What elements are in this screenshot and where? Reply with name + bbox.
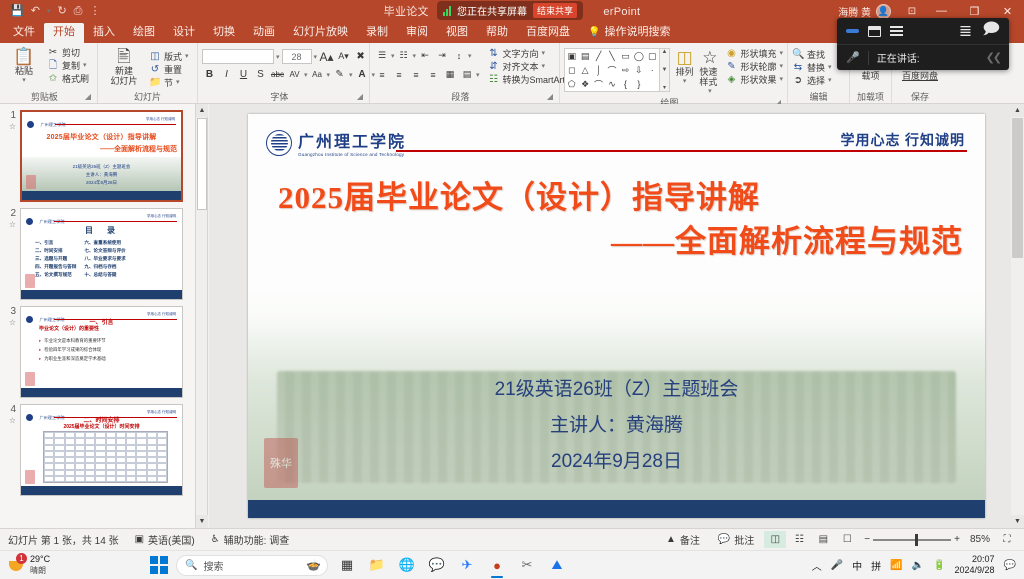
font-color-button[interactable]: A [355,67,370,82]
subtitle-line-2: 主讲人：黄海腾 [248,408,985,444]
copy-icon: 🗋 [47,60,59,72]
mini-highlight-3: 毕业论文（设计）的重要性 [39,325,172,332]
section-button[interactable]: 📁 节 ▾ [149,77,189,89]
header-rule [396,150,967,152]
quick-styles-label: 快速样式 [699,67,720,87]
tab-baidu-netdisk[interactable]: 百度网盘 [517,23,579,43]
thumbnail-slide-4[interactable]: 4 ☆ 广州理工学院 学用心志 行知诚明 二、时间安排 2025届毕业论文（设计… [0,398,195,496]
meeting-toolbar-bottom: 🎤 正在讲话: ❮❮ [837,44,1009,70]
bold-button[interactable]: B [202,67,217,82]
mini-header-1: 广州理工学院 学用心志 行知诚明 [27,116,176,125]
paste-icon: 📋 [13,47,34,66]
arrange-button[interactable]: ◫ 排列 ▾ [675,48,694,87]
shape-effects-label: 形状效果 [740,74,776,86]
font-name-dropdown-icon[interactable]: ▾ [276,53,280,61]
main-scroll-up-icon[interactable]: ▲ [1011,104,1024,117]
meeting-minimize-icon[interactable] [846,29,859,33]
character-spacing-button[interactable]: AV [287,67,302,82]
format-painter-label: 格式刷 [62,73,89,85]
microphone-icon[interactable]: 🎤 [831,560,843,571]
copy-dropdown-icon[interactable]: ▾ [83,60,87,72]
tab-view[interactable]: 视图 [437,23,477,43]
paintbrush-icon: ✩ [47,73,59,85]
thumbnail-pane-scrollbar[interactable]: ▲ ▼ [196,104,208,528]
tencent-meeting-icon[interactable]: ✈ [456,554,478,576]
columns-dropdown-icon[interactable]: ▾ [476,71,480,79]
ime-pinyin-indicator[interactable]: 拼 [871,558,881,573]
font-size-input[interactable]: 28 [282,49,312,64]
clock-date: 2024/9/28 [955,565,995,575]
meeting-floating-toolbar[interactable]: ≣ 🗩 🎤 正在讲话: ❮❮ [837,18,1009,70]
thumbnail-preview-1[interactable]: 广州理工学院 学用心志 行知诚明 2025届毕业论文（设计）指导讲解 ——全面解… [20,110,183,202]
slide-stage: 广州理工学院 Guangzhou Institute of Science an… [209,104,1024,528]
meeting-toolbar-top: ≣ 🗩 [837,18,1009,44]
tab-help[interactable]: 帮助 [477,23,517,43]
notes-icon: ▲ [666,534,676,545]
shape-fill-button[interactable]: ◉ 形状填充 ▾ [725,48,783,60]
shape-right-arrow-icon[interactable]: ⇨ [622,65,630,76]
reset-icon: ↺ [149,64,161,76]
align-text-icon: ⇵ [488,61,500,73]
mini-table-4 [43,431,168,483]
clipboard-dialog-launcher-icon[interactable]: ◢ [85,91,91,103]
mini-toc-col-left: 一、引言 二、时间安排 三、选题与开题 四、开题报告与答辩 五、论文撰写规范 [35,239,76,279]
slide-sorter-view-button[interactable]: ☷ [788,531,810,548]
clear-formatting-icon[interactable]: ✖ [353,49,368,64]
bullets-button[interactable]: ☰ [374,48,390,63]
slides-group-label: 幻灯片 [102,91,193,103]
mini-school-logo-icon-1 [27,121,34,128]
thumb-num-text-2: 2 [10,208,16,219]
shape-dot-icon[interactable]: · [651,65,654,75]
shape-fill-dropdown-icon[interactable]: ▾ [779,48,783,60]
replace-button[interactable]: ⇆ 替换 ▾ [792,62,832,74]
numbering-button[interactable]: ☷ [396,48,412,63]
line-spacing-dropdown-icon[interactable]: ▾ [468,52,472,60]
tab-insert[interactable]: 插入 [84,23,124,43]
smartart-icon: ☷ [488,74,500,86]
reset-button[interactable]: ↺ 重置 [149,64,189,76]
lightbulb-icon: 💡 [588,26,600,39]
current-slide[interactable]: 广州理工学院 Guangzhou Institute of Science an… [248,114,985,518]
italic-button[interactable]: I [219,67,234,82]
save-group-label: 保存 [896,91,944,103]
copy-button[interactable]: 🗋 复制 ▾ [47,60,89,72]
shape-line-icon[interactable]: ╱ [596,51,601,62]
zoom-in-button[interactable]: + [954,534,960,545]
arrange-icon: ◫ [677,48,693,67]
shape-curve-icon[interactable]: ⌒ [594,78,603,91]
edge-icon[interactable]: 🌐 [396,554,418,576]
text-direction-dropdown-icon[interactable]: ▾ [542,48,546,60]
reset-label: 重置 [164,64,182,76]
shape-outline-button[interactable]: ✎ 形状轮廓 ▾ [725,61,783,73]
mini-title-line2-1: ——全面解析流程与规范 [28,144,177,154]
shape-textbox-icon[interactable]: ▣ [567,51,576,62]
thumbnail-number-2: 2 ☆ [4,208,20,300]
section-dropdown-icon[interactable]: ▾ [176,77,180,89]
document-title-text: 毕业论文 [384,6,429,18]
mini-rule-1 [55,124,176,125]
status-bar: 幻灯片 第 1 张，共 14 张 ▣ 英语(美国) ♿ 辅助功能: 调查 ▲ 备… [0,528,1024,550]
text-highlight-color-button[interactable]: ✎ [332,67,347,82]
convert-smartart-button[interactable]: ☷ 转换为SmartArt ▾ [488,74,572,86]
shape-elbow-icon[interactable]: ⌡ [596,65,601,75]
paragraph-group-label: ◢ 段落 [374,91,555,103]
mini-bullet: 毕业论文是本科教育的重要环节 [39,336,172,345]
animation-star-icon-3: ☆ [4,317,16,328]
text-direction-button[interactable]: ⇅ 文字方向 ▾ [488,48,572,60]
zoom-slider[interactable]: − + [860,534,964,545]
mini-sub1-1: 21级英语26班（Z）主题班会 [22,164,181,170]
more-icon[interactable]: ≣ [959,21,972,41]
tab-design[interactable]: 设计 [164,23,204,43]
thumb-num-text-3: 3 [10,306,16,317]
speaking-label: 正在讲话: [877,50,920,65]
mini-stamp-2 [25,274,35,288]
shapes-scroll-up-icon[interactable]: ▲ [662,49,668,55]
font-label-text: 字体 [270,92,288,102]
new-slide-label-2: 幻灯片 [110,76,137,86]
shape-triangle-icon[interactable]: △ [582,65,589,76]
tab-transitions[interactable]: 切换 [204,23,244,43]
shape-freeform-icon[interactable]: ❖ [581,79,589,90]
normal-view-button[interactable]: ◫ [764,531,786,548]
user-account[interactable]: 海腾 黄 👤 [838,4,899,19]
weather-temperature: 29°C [30,554,50,564]
zoom-level[interactable]: 85% [966,534,994,545]
weather-widget[interactable]: 1 29°C 晴朗 [0,554,150,576]
ribbon-group-font: ▾ 28 ▾ A▴ A▾ ✖ B I U S abc AV ▾ Aa ▾ [198,43,370,103]
slideshow-view-button[interactable]: ☐ [836,531,858,548]
font-group-label: ◢ 字体 [202,91,365,103]
layout-icon: ◫ [149,51,161,63]
ribbon-group-drawing: ▣ ▤ ╱ ╲ ▭ ◯ ▢ ◻ △ ⌡ ⌒ ⇨ ⇩ · ⬠ [560,43,788,103]
meeting-toolbar-right: ≣ 🗩 [959,18,1000,45]
system-tray: ︿ 🎤 中 拼 📶 🔈 🔋 20:07 2024/9/28 💬 [812,554,1024,576]
slide-thumbnail-pane[interactable]: 1 ☆ 广州理工学院 学用心志 行知诚明 2025届毕业论文（设计）指导讲解 —… [0,104,196,528]
font-name-input[interactable] [202,49,274,64]
mini-bullet: 为职业生涯和深造奠定学术基础 [39,354,172,363]
thumb-scroll-up-icon[interactable]: ▲ [196,104,208,117]
tab-record[interactable]: 录制 [357,23,397,43]
thumbnail-number-3: 3 ☆ [4,306,20,398]
increase-indent-button[interactable]: ⇥ [434,48,450,63]
toc-item: 五、论文撰写规范 [35,271,76,279]
toc-item: 二、时间安排 [35,247,76,255]
notification-center-icon[interactable]: 💬 [1004,560,1016,571]
addins-group-label: 加载项 [854,91,887,103]
school-motto: 学用心志 行知诚明 [841,130,966,150]
members-icon[interactable] [890,26,903,37]
shapes-gallery-scrollbar[interactable]: ▲ ▼ ▾ [660,48,670,92]
slide-area-scrollbar[interactable]: ▲ ▼ [1011,104,1024,528]
paragraph-label-text: 段落 [451,92,469,102]
animation-star-icon-2: ☆ [4,219,16,230]
shapes-gallery[interactable]: ▣ ▤ ╱ ╲ ▭ ◯ ▢ ◻ △ ⌡ ⌒ ⇨ ⇩ · ⬠ [564,48,660,92]
mini-footer-4 [21,486,182,495]
columns-button[interactable]: ▤ [459,67,475,82]
tab-slideshow[interactable]: 幻灯片放映 [284,23,357,43]
new-slide-icon: 🖹 [117,47,131,66]
increase-font-size-button[interactable]: A▴ [319,49,334,64]
slide-title[interactable]: 2025届毕业论文（设计）指导讲解 ——全面解析流程与规范 [278,176,963,264]
arrange-label: 排列 [676,67,694,77]
shape-vertical-textbox-icon[interactable]: ▤ [581,51,590,62]
strikethrough-button[interactable]: abc [270,67,285,82]
shape-square-icon[interactable]: ◻ [568,65,575,76]
character-spacing-dropdown-icon[interactable]: ▾ [304,71,308,79]
mini-body-3: 毕业论文（设计）的重要性 毕业论文是本科教育的重要环节 检验四年学习成果的综合体… [39,325,172,363]
toc-item: 一、引言 [35,239,76,247]
change-case-dropdown-icon[interactable]: ▾ [327,71,331,79]
main-scroll-thumb[interactable] [1012,118,1023,258]
layout-button[interactable]: ◫ 版式 ▾ [149,51,189,63]
select-button[interactable]: ➲ 选择 ▾ [792,75,832,87]
cut-label: 剪切 [62,47,80,59]
mini-title-line1-1: 2025届毕业论文（设计）指导讲解 [28,132,175,142]
toc-item: 九、归档与存档 [84,263,125,271]
shapes-more-icon[interactable]: ▾ [663,84,666,91]
school-seal-icon [266,130,292,156]
powerpoint-window: 💾 ↶ ▾ ↻ ⎙ ⋮ 毕业论文 erPoint 您正在共享屏幕 结束共享 海腾… [0,0,1024,579]
comment-bubble-icon: 💬 [718,534,730,545]
comments-button[interactable]: 💬 批注 [710,532,762,547]
thumb-num-text-1: 1 [10,110,16,121]
animation-star-icon-4: ☆ [4,415,16,426]
search-input[interactable]: 🔍 搜索 🍲 [176,555,328,576]
select-label: 选择 [807,75,825,87]
search-illustration-icon: 🍲 [306,558,321,572]
shapes-scroll-down-icon[interactable]: ▼ [662,67,668,73]
change-case-button[interactable]: Aa [310,67,325,82]
clock[interactable]: 20:07 2024/9/28 [955,554,995,576]
thumbnail-slide-2[interactable]: 2 ☆ 广州理工学院 学用心志 行知诚明 目 录 一、引言 二、时间安排 三、选… [0,202,195,300]
toc-item: 十、总结与答疑 [84,271,125,279]
tray-overflow-icon[interactable]: ︿ [812,558,822,573]
thumbnail-preview-4[interactable]: 广州理工学院 学用心志 行知诚明 二、时间安排 2025届毕业论文（设计）时间安… [20,404,183,496]
shape-fill-icon: ◉ [725,48,737,60]
justify-button[interactable]: ≡ [425,67,441,82]
mini-rule-2 [54,221,177,222]
numbering-dropdown-icon[interactable]: ▾ [413,52,417,60]
mini-stamp-3 [25,372,35,386]
tab-draw[interactable]: 绘图 [124,23,164,43]
start-button[interactable] [150,556,168,574]
shape-outline-dropdown-icon[interactable]: ▾ [779,61,783,73]
shape-arc-icon[interactable]: ∿ [608,79,616,90]
scissors-icon: ✂ [47,47,59,59]
wifi-icon[interactable]: 📶 [890,560,902,571]
search-placeholder: 搜索 [203,558,223,573]
fit-to-window-button[interactable]: ⛶ [996,531,1018,548]
shape-effects-button[interactable]: ◈ 形状效果 ▾ [725,74,783,86]
powerpoint-icon[interactable]: ● [486,554,508,576]
shape-down-arrow-icon[interactable]: ⇩ [635,65,643,76]
taskbar-center: 🔍 搜索 🍲 ▦ 📁 🌐 💬 ✈ ● ✂ ⛰ [150,554,568,576]
decrease-indent-button[interactable]: ⇤ [417,48,433,63]
volume-icon[interactable]: 🔈 [912,560,924,571]
accessibility-checker[interactable]: ♿ 辅助功能: 调查 [203,532,298,547]
mini-motto-2: 学用心志 行知诚明 [147,214,176,219]
notification-badge: 1 [16,553,27,564]
end-share-button[interactable]: 结束共享 [533,3,577,18]
decrease-font-size-button[interactable]: A▾ [336,49,351,64]
toc-item: 四、开题报告与答辩 [35,263,76,271]
ribbon-group-slides: 🖹 新建 幻灯片 ◫ 版式 ▾ ↺ 重置 📁 [98,43,198,103]
replace-dropdown-icon[interactable]: ▾ [828,62,832,74]
new-slide-label-1: 新建 [115,66,133,76]
font-dialog-launcher-icon[interactable]: ◢ [357,91,363,103]
tab-animations[interactable]: 动画 [244,23,284,43]
find-label: 查找 [807,49,825,61]
xmind-icon[interactable]: ⛰ [546,554,568,576]
thumbnail-slide-1[interactable]: 1 ☆ 广州理工学院 学用心志 行知诚明 2025届毕业论文（设计）指导讲解 —… [0,104,195,202]
slide-counter[interactable]: 幻灯片 第 1 张，共 14 张 [0,532,127,547]
share-notice-text: 您正在共享屏幕 [457,3,527,18]
battery-icon[interactable]: 🔋 [933,560,945,571]
shape-rounded-rect-icon[interactable]: ▢ [648,51,657,62]
replace-label: 替换 [807,62,825,74]
slide-title-line2: ——全面解析流程与规范 [278,220,963,264]
accessibility-label: 辅助功能: 调查 [224,532,290,547]
zoom-handle[interactable] [915,534,918,546]
mini-footer-3 [21,388,182,397]
thumbnail-preview-3[interactable]: 广州理工学院 学用心志 行知诚明 一、引言 毕业论文（设计）的重要性 毕业论文是… [20,306,183,398]
screen-share-notice: 您正在共享屏幕 结束共享 [437,1,583,20]
toolbar-divider [868,51,869,65]
addins-label-2: 载项 [861,71,879,81]
quick-styles-button[interactable]: ☆ 快速样式 ▾ [699,48,720,97]
toc-item: 三、选题与开题 [35,255,76,263]
mini-motto-1: 学用心志 行知诚明 [146,117,175,122]
mini-footer-2 [21,290,182,299]
mini-stamp-1 [26,175,36,189]
toc-item: 八、毕业要求与要求 [84,255,125,263]
slide-footer-band [248,500,985,518]
paste-button[interactable]: 📋 粘贴 ▾ [4,47,44,86]
tab-home[interactable]: 开始 [44,23,84,43]
language-indicator[interactable]: ▣ 英语(美国) [127,532,203,547]
shape-arrow-icon[interactable]: ╲ [609,51,614,62]
shape-effects-dropdown-icon[interactable]: ▾ [779,74,783,86]
windows-taskbar: 1 29°C 晴朗 🔍 搜索 🍲 ▦ 📁 🌐 💬 ✈ ● ✂ ⛰ ︿ [0,550,1024,579]
clock-time: 20:07 [972,554,995,564]
text-direction-icon: ⇅ [488,48,500,60]
align-text-button[interactable]: ⇵ 对齐文本 ▾ [488,61,572,73]
weather-text: 29°C 晴朗 [30,554,50,576]
shape-corner-icon[interactable]: ⌒ [607,64,616,77]
task-view-icon[interactable]: ▦ [336,554,358,576]
snipaste-icon[interactable]: ✂ [516,554,538,576]
highlight-dropdown-icon[interactable]: ▾ [349,71,353,79]
align-center-button[interactable]: ≡ [391,67,407,82]
layout-label: 版式 [164,51,182,63]
find-button[interactable]: 🔍 查找 [792,49,832,61]
share-screen-icon[interactable] [868,26,881,37]
clipboard-label-text: 剪贴板 [31,92,58,102]
wechat-icon[interactable]: 💬 [426,554,448,576]
slide-subtitle[interactable]: 21级英语26班（Z）主题班会 主讲人：黄海腾 2024年9月28日 [248,372,985,480]
thumbnail-preview-2[interactable]: 广州理工学院 学用心志 行知诚明 目 录 一、引言 二、时间安排 三、选题与开题… [20,208,183,300]
mini-sub2-1: 主讲人：黄海腾 [22,172,181,178]
shape-outline-icon: ✎ [725,61,737,73]
underline-button[interactable]: U [236,67,251,82]
thumb-num-text-4: 4 [10,404,16,415]
quick-styles-icon: ☆ [702,48,717,67]
tab-review[interactable]: 审阅 [397,23,437,43]
mini-toc-heading: 目 录 [21,225,182,236]
audio-waveform-icon: ❮❮ [986,51,1000,64]
user-name: 海腾 黄 [838,4,871,19]
subtitle-line-3: 2024年9月28日 [248,444,985,480]
new-slide-button[interactable]: 🖹 新建 幻灯片 [102,47,146,86]
shape-pentagon-icon[interactable]: ⬠ [568,79,576,90]
shape-effects-icon: ◈ [725,74,737,86]
mini-header-2: 广州理工学院 学用心志 行知诚明 [26,213,177,222]
school-logo: 广州理工学院 Guangzhou Institute of Science an… [266,128,406,157]
paragraph-dialog-launcher-icon[interactable]: ◢ [547,91,553,103]
font-size-dropdown-icon[interactable]: ▾ [314,53,318,61]
main-scroll-down-icon[interactable]: ▼ [1011,515,1024,528]
zoom-track[interactable] [873,539,951,541]
align-left-button[interactable]: ≡ [374,67,390,82]
file-explorer-icon[interactable]: 📁 [366,554,388,576]
avatar[interactable]: 👤 [876,4,891,19]
arrange-dropdown-icon[interactable]: ▾ [683,77,687,87]
layout-dropdown-icon[interactable]: ▾ [185,51,189,63]
shape-outline-label: 形状轮廓 [740,61,776,73]
thumbnail-slide-3[interactable]: 3 ☆ 广州理工学院 学用心志 行知诚明 一、引言 毕业论文（设计）的重要性 毕… [0,300,195,398]
ribbon-group-clipboard: 📋 粘贴 ▾ ✂ 剪切 🗋 复制 ▾ ✩ [0,43,98,103]
ime-mode-indicator[interactable]: 中 [852,558,862,573]
animation-star-icon-1: ☆ [4,121,16,132]
search-icon: 🔍 [792,49,804,61]
select-dropdown-icon[interactable]: ▾ [828,75,832,87]
mic-icon[interactable]: 🎤 [846,51,860,64]
quick-styles-dropdown-icon[interactable]: ▾ [708,87,712,97]
text-shadow-button[interactable]: S [253,67,268,82]
chat-icon[interactable]: 🗩 [982,18,1000,45]
mini-footer-1 [22,191,181,200]
align-text-label: 对齐文本 [503,61,539,73]
thumb-scroll-thumb[interactable] [197,118,207,210]
text-box-button[interactable]: ▦ [442,67,458,82]
cursor-icon: ➲ [792,75,804,87]
reading-view-button[interactable]: ▤ [812,531,834,548]
text-direction-label: 文字方向 [503,48,539,60]
shape-right-brace-icon[interactable]: } [637,79,640,89]
shape-rect-icon[interactable]: ▭ [621,51,630,62]
align-text-dropdown-icon[interactable]: ▾ [542,61,546,73]
cut-button[interactable]: ✂ 剪切 [47,47,89,59]
bullets-dropdown-icon[interactable]: ▾ [391,52,395,60]
tab-file[interactable]: 文件 [4,23,44,43]
paste-dropdown-icon[interactable]: ▾ [22,76,26,86]
language-icon: ▣ [135,534,144,545]
notes-button[interactable]: ▲ 备注 [658,532,708,547]
ribbon-group-paragraph: ☰ ▾ ☷ ▾ ⇤ ⇥ ↕ ▾ ≡ ≡ ≡ ≡ ▦ [370,43,560,103]
format-painter-button[interactable]: ✩ 格式刷 [47,73,89,85]
weather-description: 晴朗 [30,565,50,576]
shape-left-brace-icon[interactable]: { [624,79,627,89]
thumb-scroll-down-icon[interactable]: ▼ [196,515,208,528]
zoom-out-button[interactable]: − [864,534,870,545]
shape-oval-icon[interactable]: ◯ [634,51,644,62]
tell-me-search[interactable]: 💡 操作说明搜索 [579,23,679,43]
align-right-button[interactable]: ≡ [408,67,424,82]
line-spacing-button[interactable]: ↕ [451,48,467,63]
